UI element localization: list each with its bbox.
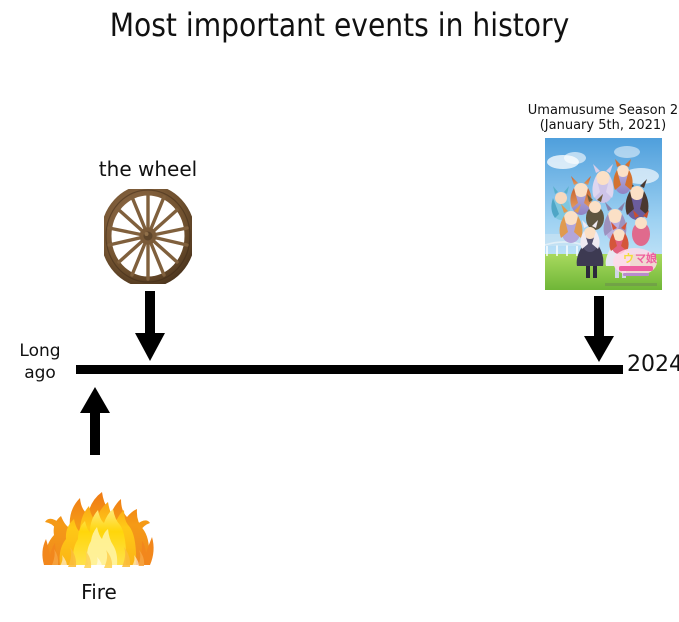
timeline-axis <box>76 365 623 374</box>
event-label-wheel: the wheel <box>78 157 218 181</box>
fire-icon <box>38 465 160 571</box>
timeline-start-label: Long ago <box>8 340 72 384</box>
meme-image: Most important events in history Umamusu… <box>0 0 679 622</box>
anime-poster-image: ウ マ娘 <box>545 138 662 290</box>
timeline-end-label: 2024 <box>627 352 679 377</box>
svg-text:マ娘: マ娘 <box>635 251 657 265</box>
arrow-up-fire <box>78 387 112 460</box>
wagon-wheel-icon <box>104 189 192 284</box>
event-label-fire: Fire <box>40 580 158 604</box>
arrow-down-umamusume <box>582 296 616 369</box>
timeline-start-label-line1: Long <box>8 340 72 362</box>
page-title: Most important events in history <box>41 6 639 44</box>
svg-text:ウ: ウ <box>623 252 634 265</box>
arrow-down-wheel <box>133 291 167 368</box>
event-label-umamusume-line2: (January 5th, 2021) <box>503 118 679 133</box>
timeline-start-label-line2: ago <box>8 362 72 384</box>
event-label-umamusume: Umamusume Season 2 (January 5th, 2021) <box>503 103 679 133</box>
event-label-umamusume-line1: Umamusume Season 2 <box>503 103 679 118</box>
